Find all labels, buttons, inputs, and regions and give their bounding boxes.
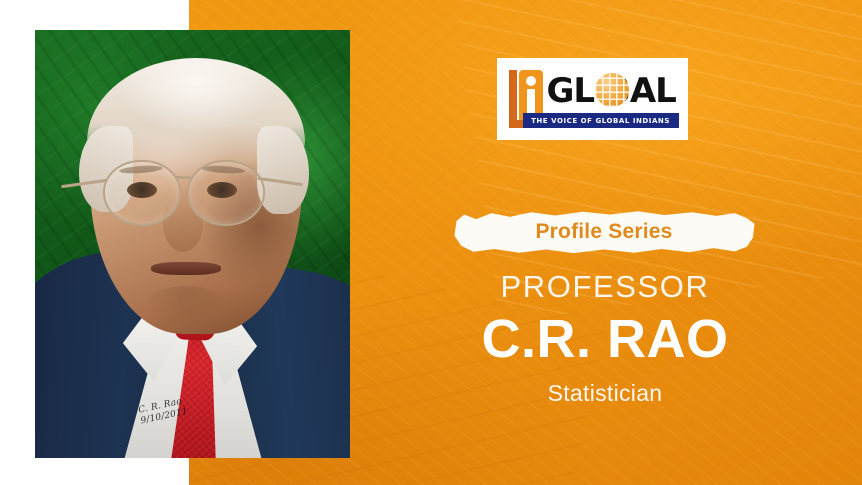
subject-name-block: PROFESSOR C.R. RAO Statistician: [380, 268, 830, 408]
profile-series-banner: Profile Series: [452, 209, 756, 255]
photo-glasses-bridge: [175, 176, 191, 179]
subject-role: Statistician: [380, 378, 830, 408]
logo-tagline-bar: THE VOICE OF GLOBAL INDIANS: [523, 113, 679, 128]
brand-logo-inner: GL BAL THE VOICE OF GLOBAL INDIANS: [507, 68, 679, 130]
globe-icon: [595, 73, 629, 107]
photo-glasses-lens-left: [103, 160, 181, 226]
subject-title: PROFESSOR: [380, 268, 830, 306]
photo-glasses-lens-right: [187, 160, 265, 226]
photo-chin: [143, 286, 229, 328]
profile-series-label: Profile Series: [452, 209, 756, 255]
portrait-photo-image: C. R. Rao 9/10/2011: [35, 30, 350, 458]
logo-i-dot-icon: [526, 76, 536, 86]
brand-logo[interactable]: GL BAL THE VOICE OF GLOBAL INDIANS: [497, 58, 688, 140]
profile-poster: C. R. Rao 9/10/2011 GL BAL THE VOICE OF …: [0, 0, 862, 485]
portrait-photo: C. R. Rao 9/10/2011: [35, 30, 350, 458]
logo-tagline-text: THE VOICE OF GLOBAL INDIANS: [531, 117, 670, 125]
subject-name: C.R. RAO: [380, 308, 830, 370]
photo-mouth: [151, 262, 221, 275]
